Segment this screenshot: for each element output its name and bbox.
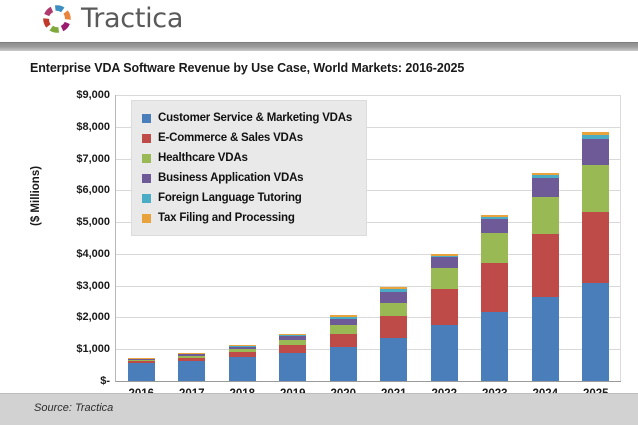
bar-segment[interactable]: [431, 289, 458, 326]
legend-item-label: Customer Service & Marketing VDAs: [158, 112, 352, 124]
bar-segment[interactable]: [431, 325, 458, 381]
bar-segment[interactable]: [330, 334, 357, 348]
bar-segment[interactable]: [481, 233, 508, 263]
bar-segment[interactable]: [582, 212, 609, 283]
bar-segment[interactable]: [380, 303, 407, 316]
legend-item[interactable]: Customer Service & Marketing VDAs: [142, 108, 352, 128]
legend-item[interactable]: Healthcare VDAs: [142, 148, 352, 168]
stacked-bar[interactable]: [481, 215, 508, 381]
bar-segment[interactable]: [330, 325, 357, 333]
y-axis-tick-label: $-: [100, 375, 110, 387]
legend-swatch-icon: [142, 114, 151, 123]
legend-swatch-icon: [142, 174, 151, 183]
bar-segment[interactable]: [128, 363, 155, 381]
legend-item[interactable]: E-Commerce & Sales VDAs: [142, 128, 352, 148]
legend-item[interactable]: Foreign Language Tutoring: [142, 188, 352, 208]
bar-group: 2025: [571, 95, 622, 381]
bar-segment[interactable]: [178, 361, 205, 381]
legend-item-label: Business Application VDAs: [158, 172, 303, 184]
bar-segment[interactable]: [582, 139, 609, 166]
brand-name: Tractica: [81, 2, 183, 36]
bar-segment[interactable]: [279, 345, 306, 353]
y-axis-tick-label: $8,000: [76, 121, 110, 133]
bar-segment[interactable]: [380, 338, 407, 381]
bar-segment[interactable]: [481, 219, 508, 233]
stacked-bar[interactable]: [330, 315, 357, 381]
page-footer: Source: Tractica: [0, 393, 638, 425]
bar-group: 2023: [470, 95, 521, 381]
bar-segment[interactable]: [229, 357, 256, 381]
bar-segment[interactable]: [330, 347, 357, 381]
stacked-bar[interactable]: [279, 334, 306, 381]
legend-item-label: E-Commerce & Sales VDAs: [158, 132, 303, 144]
chart-container: Enterprise VDA Software Revenue by Use C…: [0, 51, 638, 395]
chart-legend: Customer Service & Marketing VDAsE-Comme…: [131, 100, 367, 236]
y-axis-tick-label: $7,000: [76, 153, 110, 165]
bar-segment[interactable]: [532, 178, 559, 197]
stacked-bar[interactable]: [178, 353, 205, 381]
bar-group: 2024: [520, 95, 571, 381]
y-axis-tick-label: $9,000: [76, 89, 110, 101]
legend-swatch-icon: [142, 194, 151, 203]
bar-group: 2022: [419, 95, 470, 381]
bar-segment[interactable]: [279, 353, 306, 381]
stacked-bar[interactable]: [582, 132, 609, 381]
bar-segment[interactable]: [582, 283, 609, 381]
y-axis-tick-label: $6,000: [76, 184, 110, 196]
stacked-bar[interactable]: [380, 287, 407, 381]
y-axis-label: ($ Millions): [30, 166, 42, 226]
bar-segment[interactable]: [532, 197, 559, 234]
y-axis-tick-label: $1,000: [76, 343, 110, 355]
stacked-bar[interactable]: [532, 173, 559, 381]
bar-segment[interactable]: [431, 257, 458, 267]
bar-segment[interactable]: [380, 292, 407, 302]
y-axis-tick-label: $3,000: [76, 280, 110, 292]
legend-swatch-icon: [142, 134, 151, 143]
bar-segment[interactable]: [481, 312, 508, 381]
stacked-bar[interactable]: [128, 358, 155, 381]
tractica-pinwheel-logo-icon: [40, 2, 74, 36]
legend-swatch-icon: [142, 214, 151, 223]
legend-item[interactable]: Business Application VDAs: [142, 168, 352, 188]
legend-item-label: Tax Filing and Processing: [158, 212, 295, 224]
y-axis-tick-label: $4,000: [76, 248, 110, 260]
chart-title: Enterprise VDA Software Revenue by Use C…: [30, 61, 464, 75]
bar-segment[interactable]: [532, 234, 559, 297]
stacked-bar[interactable]: [431, 254, 458, 381]
bar-segment[interactable]: [582, 165, 609, 212]
stacked-bar[interactable]: [229, 345, 256, 381]
bar-segment[interactable]: [380, 316, 407, 338]
bar-segment[interactable]: [481, 263, 508, 313]
bar-group: 2021: [369, 95, 420, 381]
bar-segment[interactable]: [532, 297, 559, 381]
legend-item-label: Foreign Language Tutoring: [158, 192, 302, 204]
page-header: Tractica: [0, 0, 638, 42]
y-axis-tick-label: $2,000: [76, 311, 110, 323]
y-axis-tick-label: $5,000: [76, 216, 110, 228]
legend-swatch-icon: [142, 154, 151, 163]
brand-logo: Tractica: [40, 2, 183, 36]
bar-segment[interactable]: [431, 268, 458, 289]
header-divider: [0, 42, 638, 51]
legend-item-label: Healthcare VDAs: [158, 152, 248, 164]
legend-item[interactable]: Tax Filing and Processing: [142, 208, 352, 228]
source-note: Source: Tractica: [34, 402, 113, 414]
